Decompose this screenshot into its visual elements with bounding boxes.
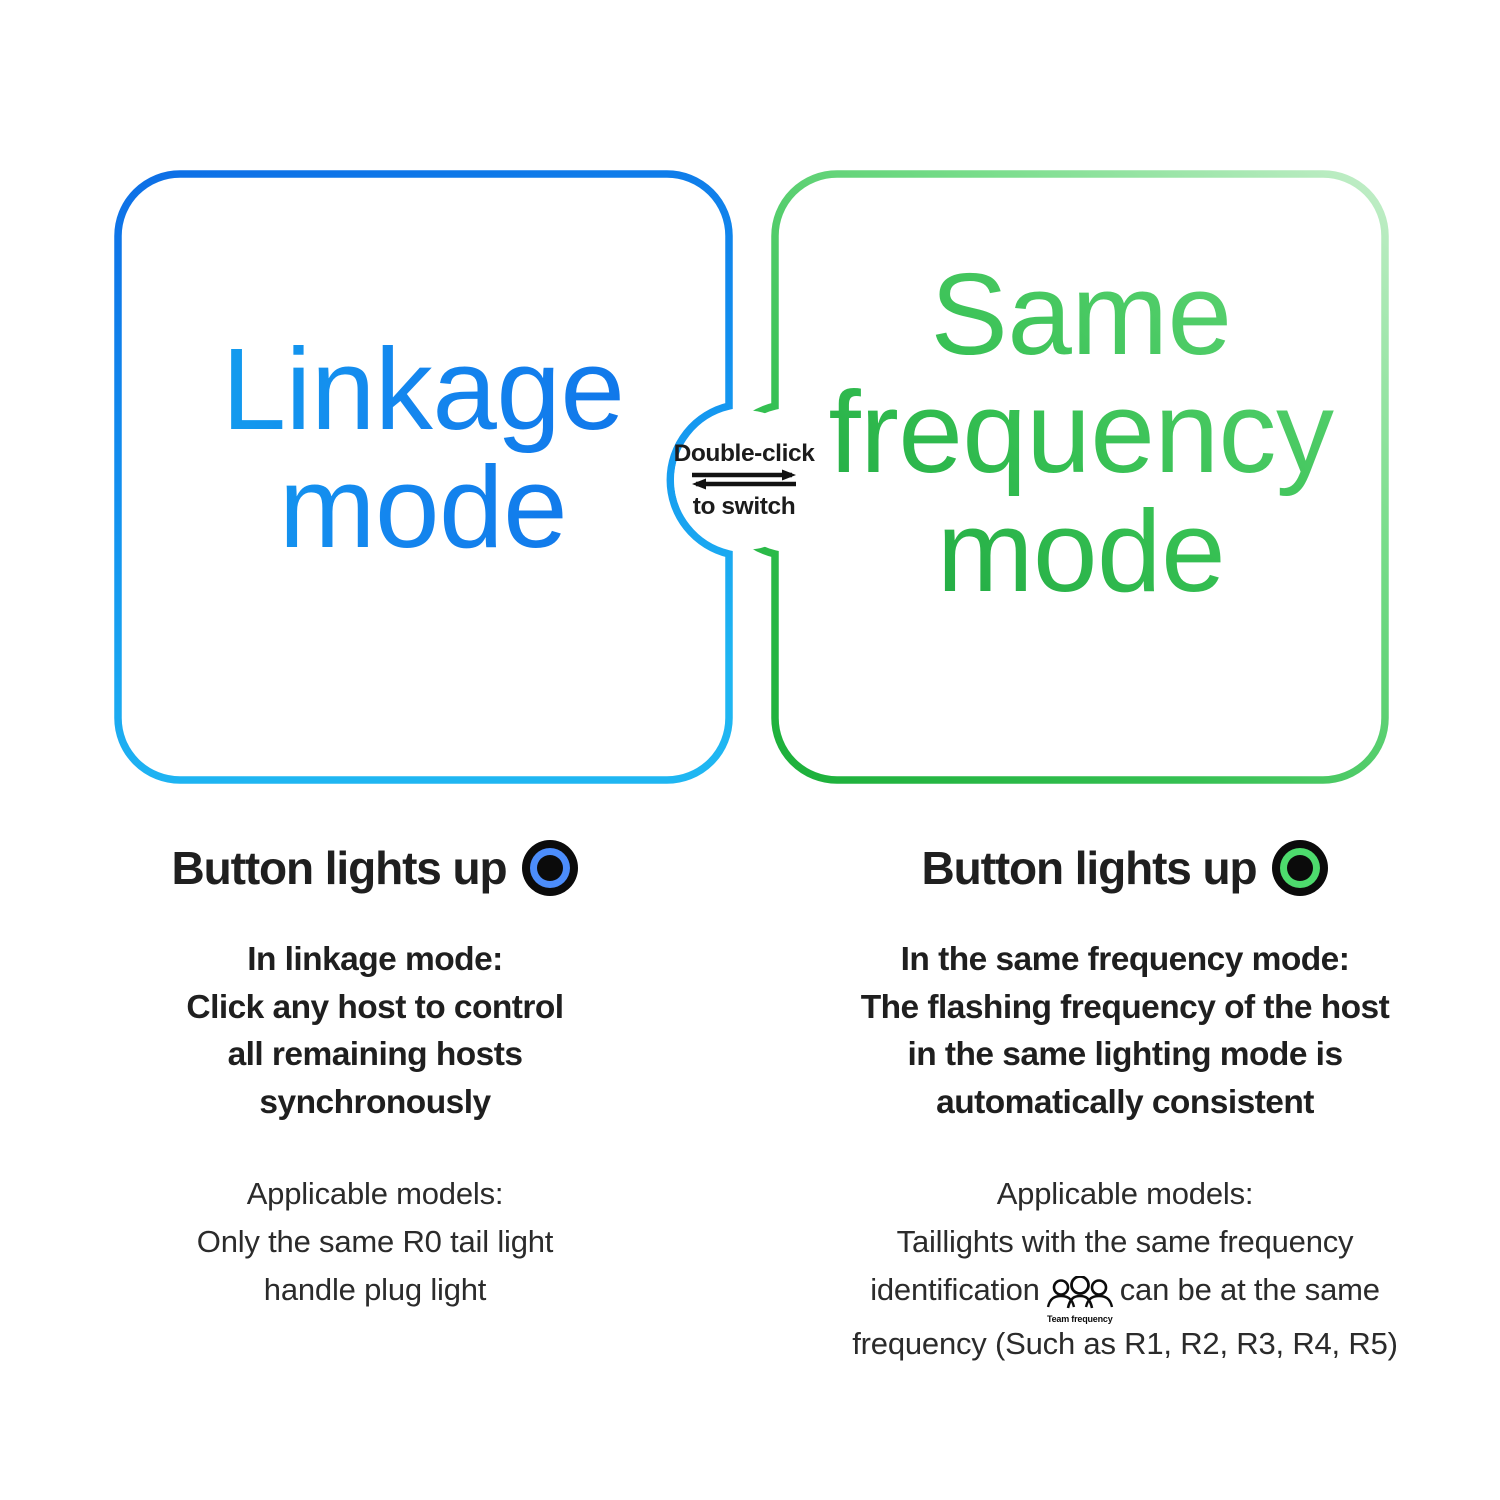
team-frequency-icon: Team frequency	[1044, 1276, 1116, 1320]
right-applicable-models-line-3: identification Team frequency can be at …	[852, 1266, 1397, 1320]
mode-details-area: Button lights up In linkage mode: Click …	[0, 826, 1500, 1368]
same-frequency-applicable-models: Applicable models: Taillights with the s…	[852, 1170, 1397, 1368]
right-button-lights-up-row: Button lights up	[922, 840, 1329, 896]
same-frequency-mode-title: Same frequency mode	[772, 255, 1390, 610]
right-applicable-models-line-3a: identification	[870, 1272, 1040, 1307]
linkage-applicable-models: Applicable models: Only the same R0 tail…	[197, 1170, 553, 1314]
team-frequency-caption: Team frequency	[1044, 1315, 1116, 1324]
blue-led-indicator-icon	[522, 840, 578, 896]
switch-badge-line-1: Double-click	[674, 440, 815, 467]
left-button-lights-up-row: Button lights up	[172, 840, 579, 896]
right-applicable-models-line-2: Taillights with the same frequency	[852, 1218, 1397, 1266]
green-led-indicator-icon	[1272, 840, 1328, 896]
same-frequency-mode-details: Button lights up In the same frequency m…	[750, 826, 1500, 1368]
linkage-mode-title: Linkage mode	[118, 330, 728, 567]
reversible-arrow-icon	[688, 468, 800, 492]
right-applicable-models-line-3b: can be at the same	[1120, 1272, 1380, 1307]
blue-led-ring	[530, 848, 570, 888]
team-frequency-glyph	[1044, 1276, 1116, 1310]
linkage-mode-details: Button lights up In linkage mode: Click …	[0, 826, 750, 1368]
left-applicable-models-line-3: handle plug light	[197, 1266, 553, 1314]
left-button-lights-up-label: Button lights up	[172, 841, 507, 895]
left-applicable-models-line-2: Only the same R0 tail light	[197, 1218, 553, 1266]
right-applicable-models-label: Applicable models:	[852, 1170, 1397, 1218]
right-button-lights-up-label: Button lights up	[922, 841, 1257, 895]
same-frequency-mode-description: In the same frequency mode: The flashing…	[760, 936, 1490, 1126]
right-applicable-models-line-4: frequency (Such as R1, R2, R3, R4, R5)	[852, 1320, 1397, 1368]
double-click-to-switch-badge[interactable]: Double-click to switch	[668, 404, 820, 556]
mode-cards-area: Linkage mode Same frequency mode Double-…	[0, 0, 1500, 820]
left-applicable-models-label: Applicable models:	[197, 1170, 553, 1218]
switch-badge-line-2: to switch	[693, 493, 796, 520]
linkage-mode-description: In linkage mode: Click any host to contr…	[25, 936, 725, 1126]
green-led-ring	[1280, 848, 1320, 888]
